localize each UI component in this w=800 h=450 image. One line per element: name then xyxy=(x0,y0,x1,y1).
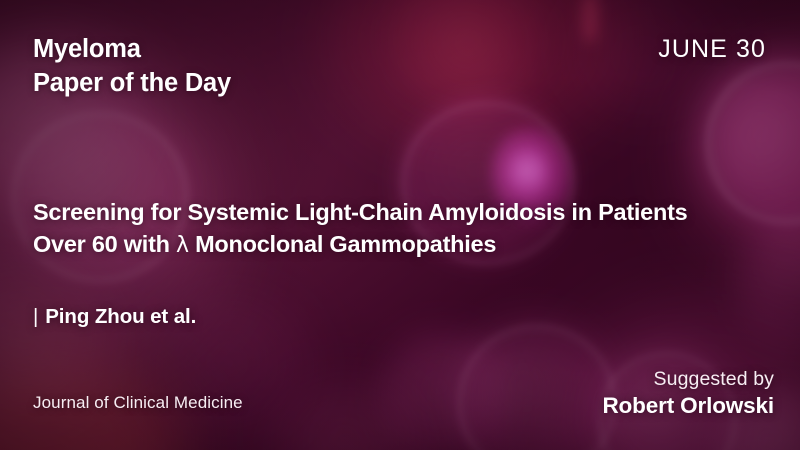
myeloma-paper-of-the-day-card: Myeloma Paper of the Day JUNE 30 Screeni… xyxy=(0,0,800,450)
card-content: Myeloma Paper of the Day JUNE 30 Screeni… xyxy=(0,0,800,450)
suggested-by-block: Suggested by Robert Orlowski xyxy=(602,368,774,420)
suggested-by-person: Robert Orlowski xyxy=(602,393,774,420)
paper-title: Screening for Systemic Light-Chain Amylo… xyxy=(33,196,693,261)
paper-title-part2: Monoclonal Gammopathies xyxy=(189,231,496,257)
date-label: JUNE 30 xyxy=(658,35,766,64)
paper-authors: |Ping Zhou et al. xyxy=(33,305,196,329)
author-names: Ping Zhou et al. xyxy=(45,305,196,328)
lambda-symbol: λ xyxy=(176,233,189,258)
journal-name: Journal of Clinical Medicine xyxy=(33,393,243,413)
suggested-by-label: Suggested by xyxy=(602,368,774,391)
author-separator: | xyxy=(33,305,38,328)
brand-title: Myeloma Paper of the Day xyxy=(33,33,231,101)
